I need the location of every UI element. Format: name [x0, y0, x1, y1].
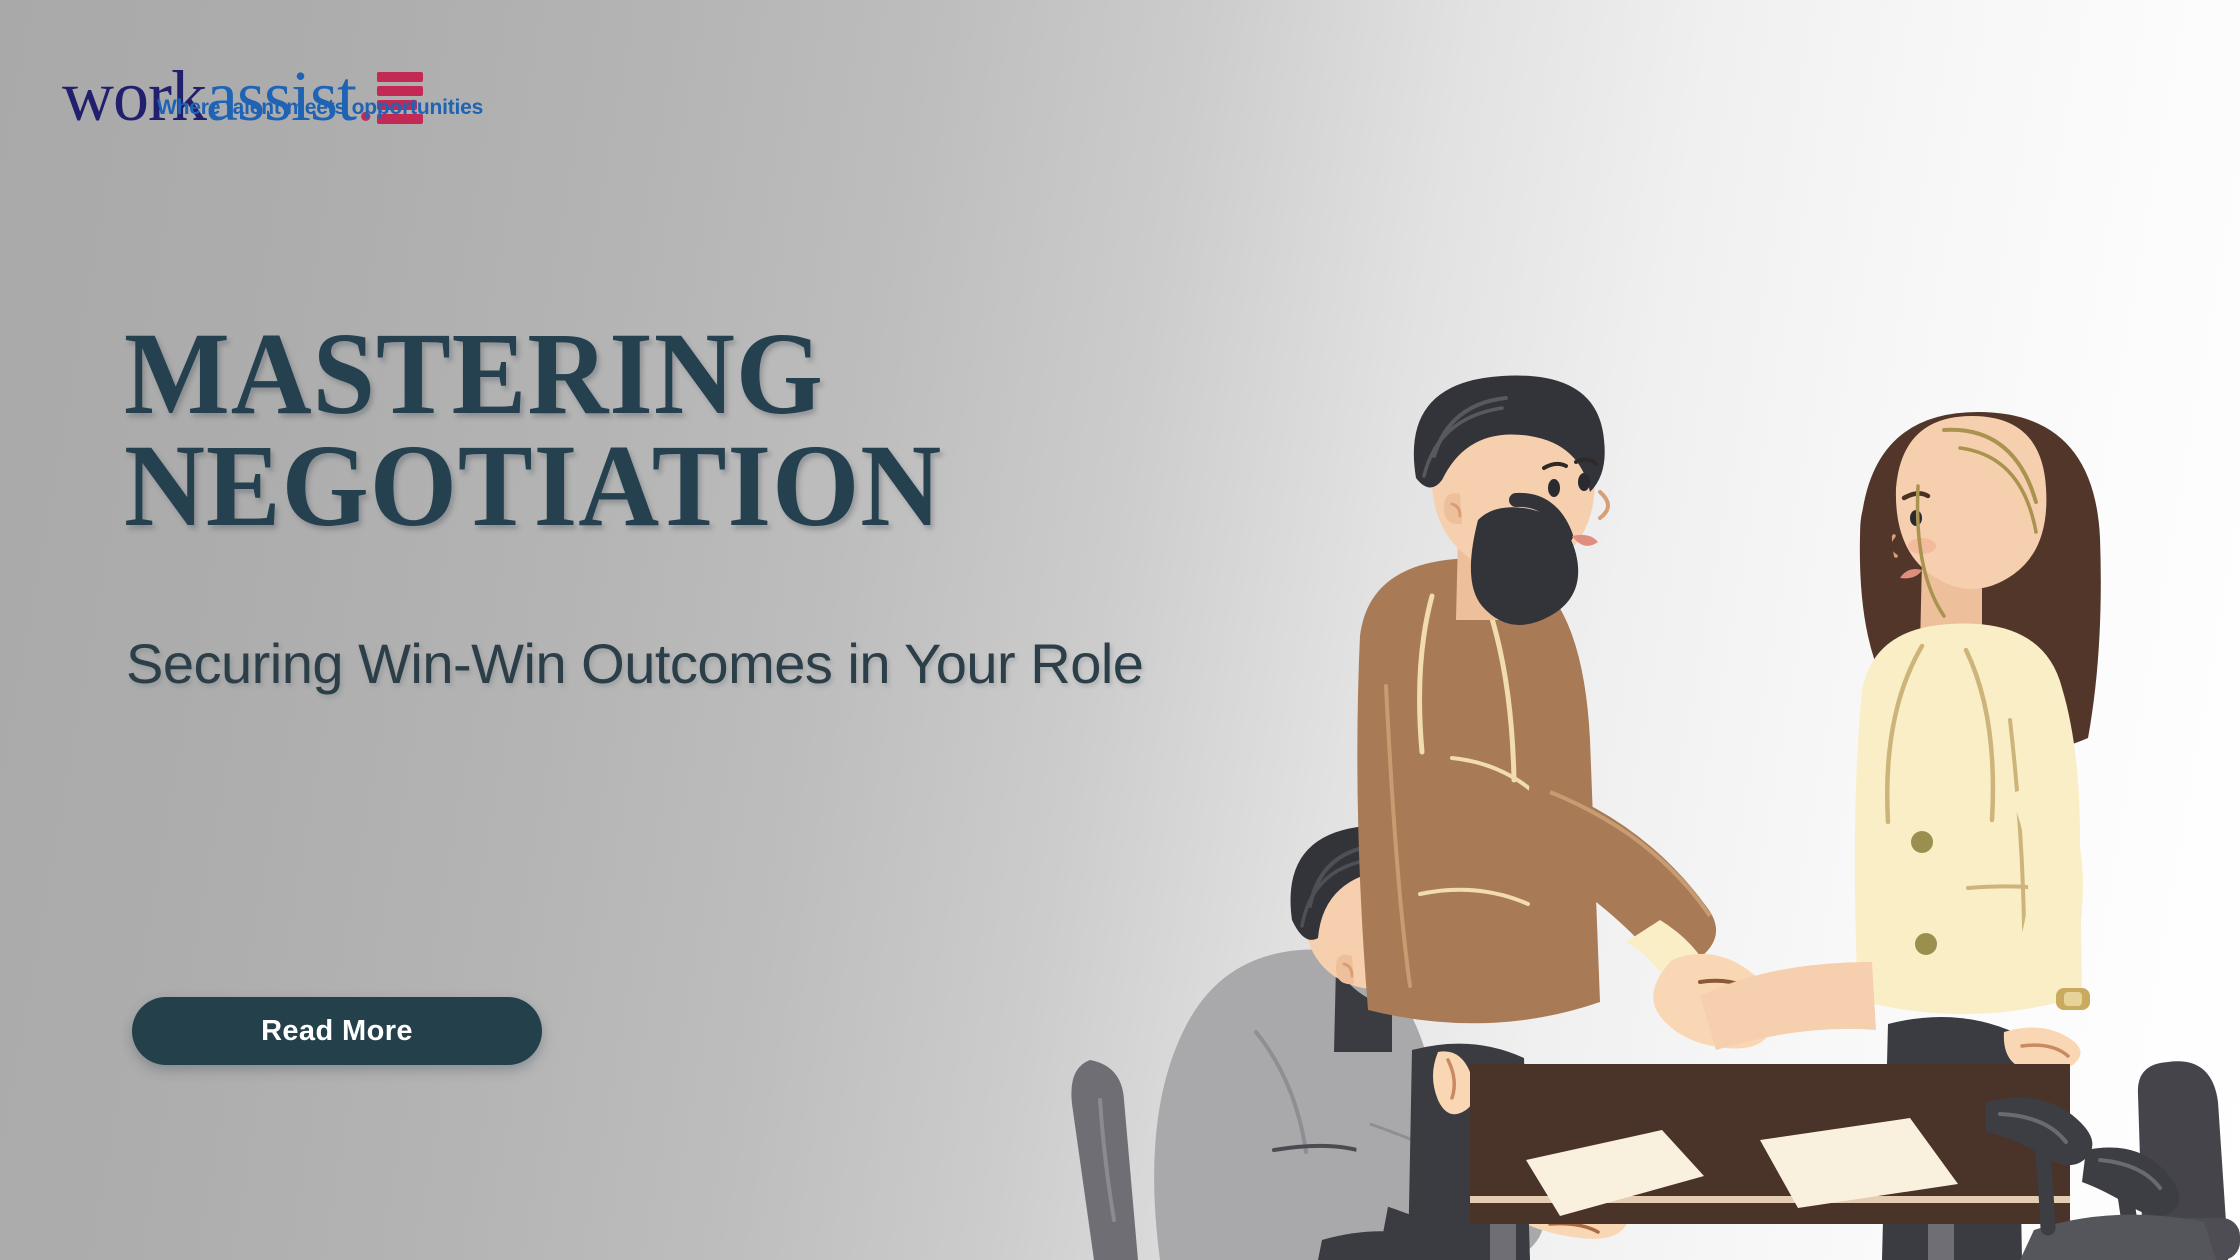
office-chair-left: [1071, 1060, 1138, 1260]
promo-banner: workassist. Where talent meets opportuni…: [0, 0, 2240, 1260]
logo-dot: .: [356, 50, 375, 137]
brand-tagline: Where talent meets opportunities: [157, 96, 483, 120]
read-more-button[interactable]: Read More: [132, 997, 542, 1065]
business-handshake-illustration: [1060, 360, 2240, 1260]
headline-line-1: MASTERING: [124, 318, 1074, 430]
page-title: MASTERING NEGOTIATION: [124, 318, 1124, 542]
page-subtitle: Securing Win-Win Outcomes in Your Role: [126, 620, 1186, 708]
headline-line-2: NEGOTIATION: [124, 430, 1074, 542]
